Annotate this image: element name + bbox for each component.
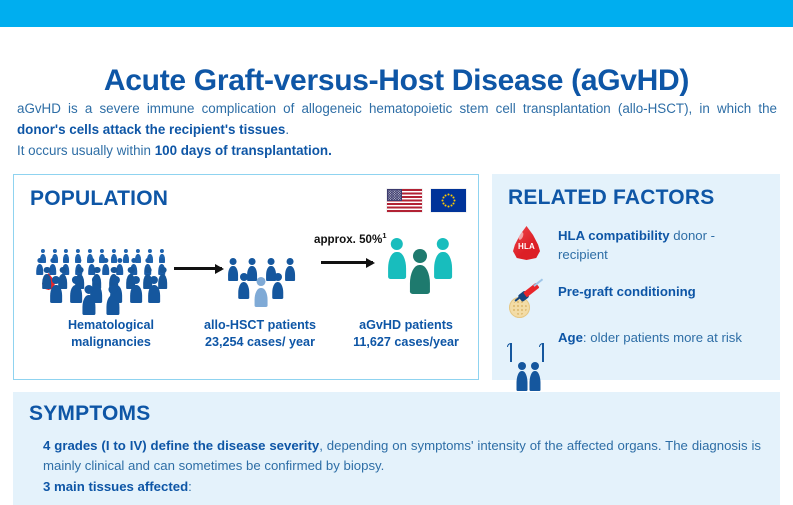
- hla-drop-label: HLA: [513, 242, 540, 251]
- person-head: [437, 238, 449, 250]
- person-head: [64, 249, 68, 253]
- person-head: [148, 249, 152, 253]
- person-head: [240, 273, 248, 281]
- factor-conditioning-bold: Pre-graft conditioning: [558, 284, 696, 299]
- flags-group: [387, 189, 466, 212]
- person-head: [52, 276, 60, 284]
- united-states-flag-icon: [387, 189, 422, 212]
- person-body: [272, 282, 284, 299]
- person-body: [106, 295, 119, 314]
- population-label-3: aGvHD patients 11,627 cases/year: [338, 317, 474, 351]
- person-head: [50, 258, 55, 263]
- hla-drop-shape: HLA: [513, 226, 540, 260]
- person-figure: [228, 258, 238, 281]
- factor-item-conditioning: Pre-graft conditioning: [506, 280, 768, 320]
- person-figure: [285, 258, 295, 281]
- person-head: [93, 267, 100, 274]
- person-head: [92, 276, 100, 284]
- person-head: [112, 276, 120, 284]
- person-figure: [434, 238, 452, 279]
- person-body: [123, 254, 129, 263]
- arrow-1-icon: [174, 267, 222, 270]
- person-head: [413, 249, 427, 263]
- syringe-cell-icon: [506, 280, 548, 320]
- walking-cane-left-icon: [510, 343, 512, 362]
- person-head: [230, 258, 237, 265]
- person-head: [72, 276, 80, 284]
- population-label-2-line1: allo-HSCT patients: [180, 317, 340, 334]
- intro-line1-tail: .: [285, 122, 289, 137]
- population-label-2-line2: 23,254 cases/ year: [180, 334, 340, 351]
- person-head: [53, 249, 57, 253]
- related-factors-heading: RELATED FACTORS: [508, 186, 714, 210]
- person-figure: [123, 249, 129, 263]
- person-head: [110, 267, 117, 274]
- person-head: [103, 258, 108, 263]
- person-figure: [255, 277, 268, 307]
- person-figure: [106, 285, 119, 315]
- page-title: Acute Graft-versus-Host Disease (aGvHD): [0, 64, 793, 98]
- walking-cane-right-icon: [542, 343, 544, 362]
- factor-age-rest: : older patients more at risk: [583, 330, 742, 345]
- population-diagram: approx. 50%1: [14, 227, 478, 325]
- person-head: [88, 249, 92, 253]
- person-figure: [130, 276, 142, 303]
- us-flag-canton: [387, 189, 402, 201]
- syringe-shape: [508, 281, 548, 319]
- person-head: [274, 273, 282, 281]
- person-head: [150, 276, 158, 284]
- factor-age-bold: Age: [558, 330, 583, 345]
- symptoms-subheading: 3 main tissues affected:: [43, 479, 192, 494]
- elderly-couple-icon: [506, 326, 548, 366]
- cell-sphere-icon: [509, 297, 530, 318]
- intro-line2: It occurs usually within 100 days of tra…: [17, 140, 777, 161]
- person-head: [76, 267, 83, 274]
- person-body: [434, 252, 452, 278]
- intro-line2-text: It occurs usually within: [17, 143, 155, 158]
- symptoms-body: 4 grades (I to IV) define the disease se…: [43, 436, 761, 476]
- person-head: [76, 258, 81, 263]
- intro-line1-bold: donor's cells attack the recipient's tis…: [17, 122, 285, 137]
- person-left-body: [516, 371, 527, 391]
- person-head: [124, 249, 128, 253]
- arrow-2-icon: [321, 261, 373, 264]
- person-head: [100, 249, 104, 253]
- factor-item-age-text: Age: older patients more at risk: [558, 326, 742, 347]
- crowd-people-icon: [36, 227, 186, 305]
- person-head: [108, 285, 117, 294]
- intro-paragraph: aGvHD is a severe immune complication of…: [17, 98, 777, 161]
- person-body: [285, 266, 295, 281]
- factor-hla-bold: HLA compatibility: [558, 228, 670, 243]
- person-head: [112, 249, 116, 253]
- person-head: [391, 238, 403, 250]
- group-people-icon: [228, 231, 314, 305]
- three-people-icon: [386, 233, 476, 295]
- symptoms-heading: SYMPTOMS: [29, 402, 150, 426]
- person-head: [160, 249, 164, 253]
- person-figure: [148, 276, 160, 303]
- person-body: [410, 265, 430, 295]
- conversion-note-text: approx. 50%: [314, 233, 382, 246]
- person-body: [82, 295, 95, 314]
- person-right-body: [529, 371, 540, 391]
- person-head: [132, 276, 140, 284]
- person-head: [159, 258, 164, 263]
- factor-item-hla: HLA HLA compatibility donor - recipient: [506, 224, 768, 264]
- person-right-head: [531, 362, 539, 370]
- top-accent-bar: [0, 0, 793, 27]
- intro-line1-text: aGvHD is a severe immune complication of…: [17, 101, 777, 116]
- person-head: [59, 267, 66, 274]
- person-head: [249, 258, 256, 265]
- symptoms-subheading-rest: :: [188, 479, 192, 494]
- hla-blood-drop-icon: HLA: [506, 224, 548, 264]
- person-body: [255, 288, 268, 307]
- person-body: [238, 282, 250, 299]
- population-label-1-line2: malignancies: [32, 334, 190, 351]
- person-head: [76, 249, 80, 253]
- person-body: [70, 285, 82, 302]
- person-head: [41, 249, 45, 253]
- population-heading: POPULATION: [30, 187, 168, 211]
- symptoms-subheading-bold: 3 main tissues affected: [43, 479, 188, 494]
- factor-item-hla-text: HLA compatibility donor - recipient: [558, 224, 768, 264]
- person-figure: [238, 273, 250, 300]
- intro-line2-bold: 100 days of transplantation.: [155, 143, 332, 158]
- person-head: [89, 258, 94, 263]
- person-figure: [82, 285, 95, 315]
- person-figure: [388, 238, 406, 279]
- person-body: [50, 285, 62, 302]
- eu-flag-stars: [442, 194, 455, 207]
- european-union-flag-icon: [431, 189, 466, 212]
- person-head: [145, 258, 150, 263]
- person-figure: [70, 276, 82, 303]
- person-left-head: [518, 362, 526, 370]
- population-label-3-line1: aGvHD patients: [338, 317, 474, 334]
- conversion-note: approx. 50%1: [314, 231, 386, 246]
- person-head: [63, 258, 68, 263]
- factor-item-age: Age: older patients more at risk: [506, 326, 768, 366]
- person-head: [117, 258, 122, 263]
- person-head: [144, 267, 151, 274]
- population-panel: POPULATION approx. 50%1 Hematological ma…: [13, 174, 479, 380]
- factor-item-conditioning-text: Pre-graft conditioning: [558, 280, 696, 301]
- elderly-couple-shape: [510, 327, 546, 365]
- symptoms-body-bold: 4 grades (I to IV) define the disease se…: [43, 438, 319, 453]
- population-label-1-line1: Hematological: [32, 317, 190, 334]
- person-head: [268, 258, 275, 265]
- person-head: [287, 258, 294, 265]
- related-factors-panel: RELATED FACTORS HLA HLA compatibility do…: [492, 174, 780, 380]
- person-head: [127, 267, 134, 274]
- person-head: [136, 249, 140, 253]
- person-head: [43, 267, 50, 274]
- person-figure: [272, 273, 284, 300]
- person-body: [148, 285, 160, 302]
- person-body: [228, 266, 238, 281]
- person-head: [84, 285, 93, 294]
- population-label-2: allo-HSCT patients 23,254 cases/ year: [180, 317, 340, 351]
- person-figure: [50, 276, 62, 303]
- symptoms-panel: SYMPTOMS 4 grades (I to IV) define the d…: [13, 392, 780, 505]
- person-body: [130, 285, 142, 302]
- person-figure: [410, 249, 430, 295]
- person-head: [159, 267, 166, 274]
- population-label-3-line2: 11,627 cases/year: [338, 334, 474, 351]
- person-body: [388, 252, 406, 278]
- person-head: [131, 258, 136, 263]
- population-label-1: Hematological malignancies: [32, 317, 190, 351]
- person-head: [37, 258, 42, 263]
- person-head: [257, 277, 266, 286]
